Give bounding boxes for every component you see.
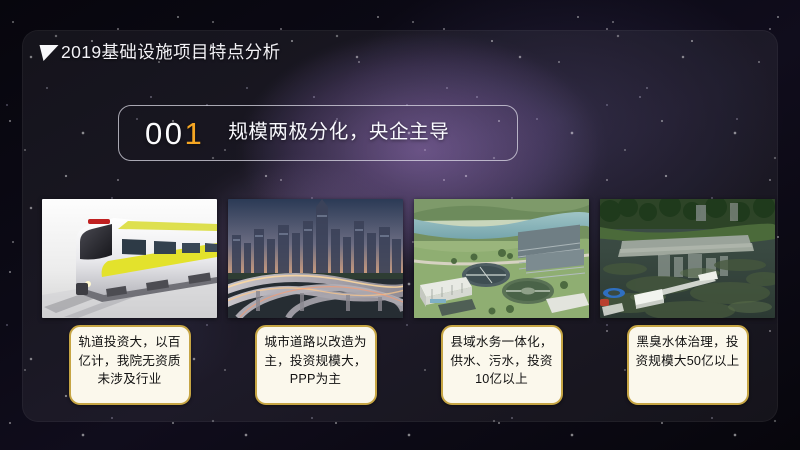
section-heading-text: 规模两极分化，央企主导	[228, 123, 449, 143]
card-item[interactable]: 城市道路以改造为主，投资规模大，PPP为主	[228, 199, 403, 405]
slide-title-row: 2019基础设施项目特点分析	[38, 38, 281, 68]
card-caption: 县域水务一体化，供水、污水，投资10亿以上	[441, 325, 563, 405]
card-caption: 黑臭水体治理，投资规模大50亿以上	[627, 325, 749, 405]
content-panel: 2019基础设施项目特点分析 001 规模两极分化，央企主导	[22, 30, 778, 422]
section-number: 001	[145, 118, 204, 149]
slide-root: 2019基础设施项目特点分析 001 规模两极分化，央企主导	[0, 0, 800, 450]
card-item[interactable]: 轨道投资大，以百亿计，我院无资质未涉及行业	[42, 199, 217, 405]
card-item[interactable]: 黑臭水体治理，投资规模大50亿以上	[600, 199, 775, 405]
section-number-prefix: 00	[145, 116, 184, 151]
page-title: 2019基础设施项目特点分析	[61, 44, 281, 62]
section-heading-box: 001 规模两极分化，央企主导	[118, 105, 518, 161]
urban-interchange-photo	[228, 199, 403, 318]
polluted-water-photo	[600, 199, 775, 318]
flag-triangle-icon	[38, 43, 60, 63]
section-number-accent: 1	[184, 116, 204, 151]
card-caption: 轨道投资大，以百亿计，我院无资质未涉及行业	[69, 325, 191, 405]
card-caption: 城市道路以改造为主，投资规模大，PPP为主	[255, 325, 377, 405]
water-treatment-plant-photo	[414, 199, 589, 318]
card-item[interactable]: 县域水务一体化，供水、污水，投资10亿以上	[414, 199, 589, 405]
metro-train-photo	[42, 199, 217, 318]
card-row: 轨道投资大，以百亿计，我院无资质未涉及行业	[22, 199, 778, 414]
